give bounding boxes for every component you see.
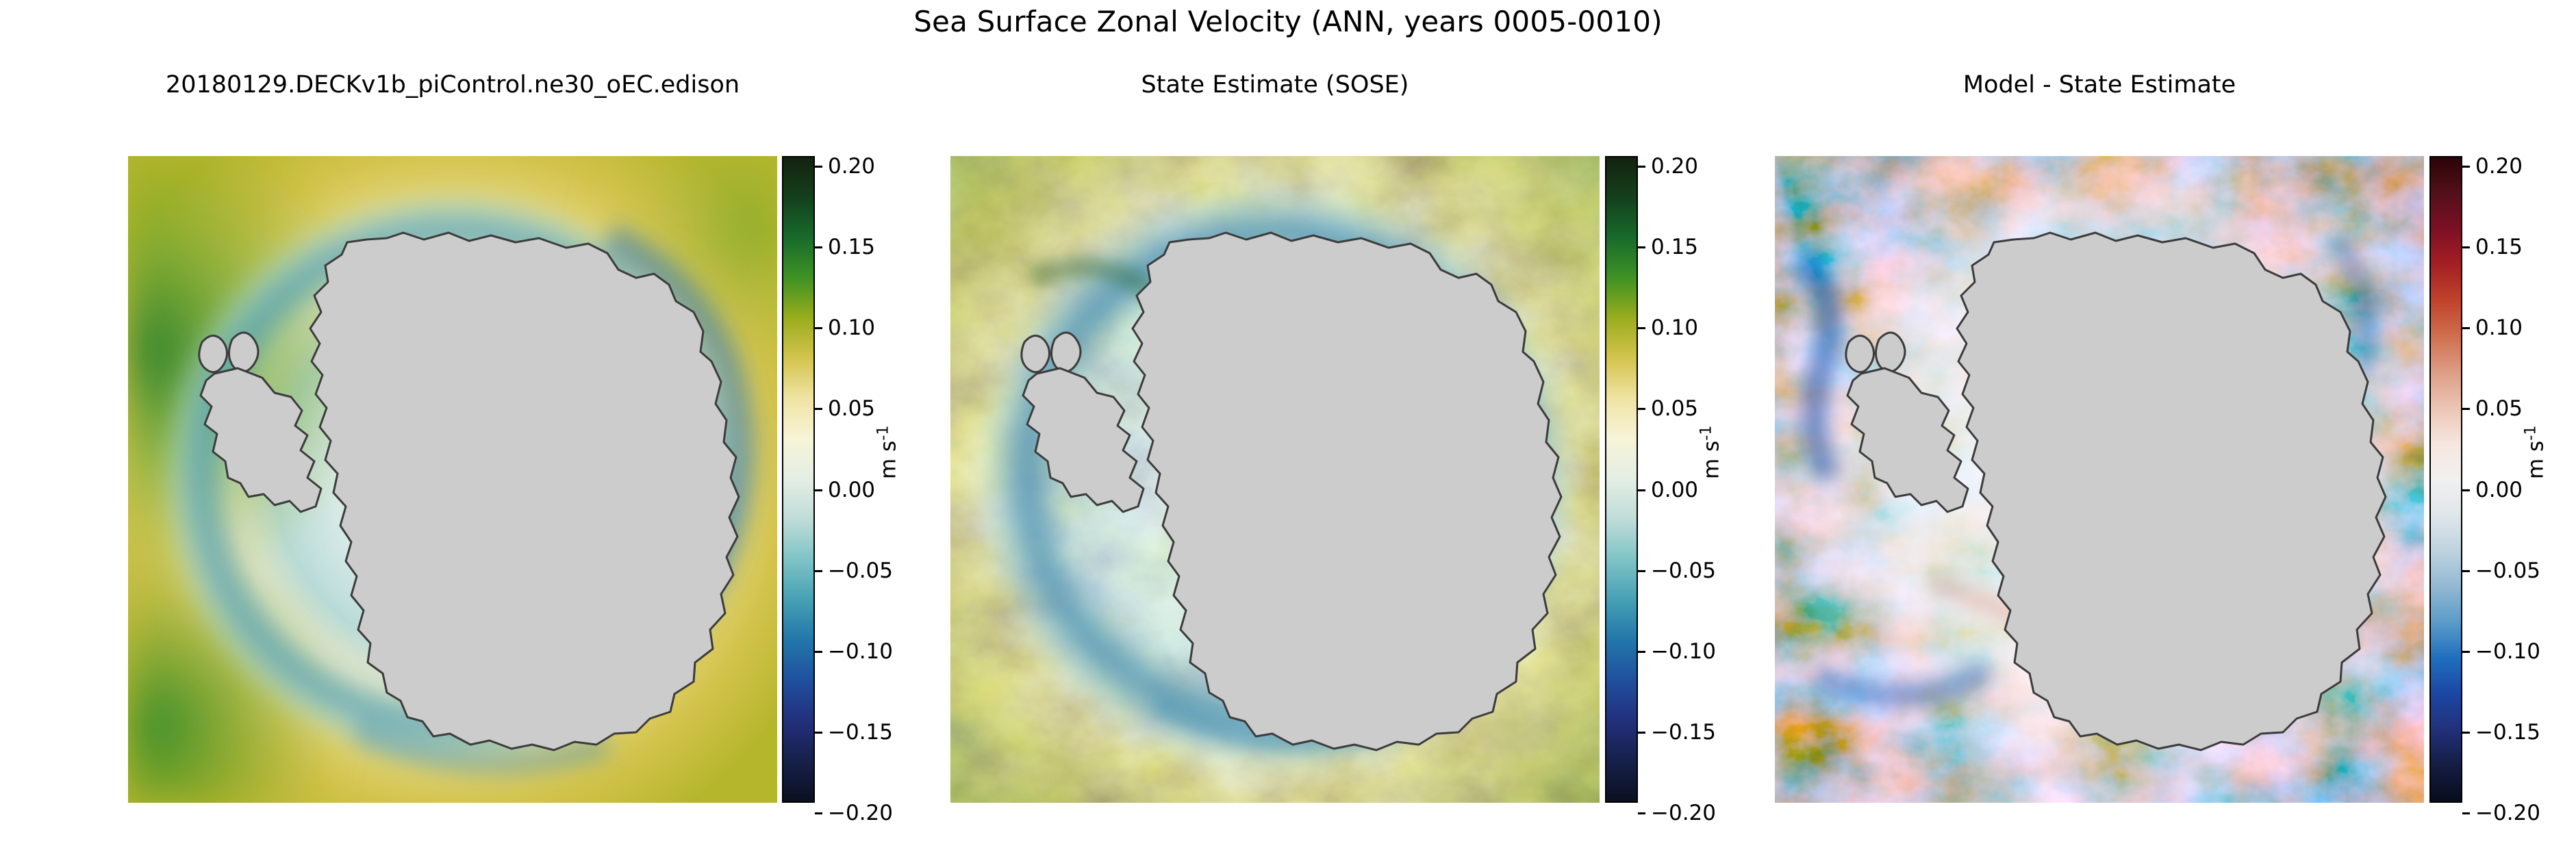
tick-mark-icon bbox=[2462, 246, 2470, 248]
tick-mark-icon bbox=[815, 246, 822, 248]
colorbar-tick-label: 0.15 bbox=[2475, 237, 2523, 258]
colorbar-model-unit: m s-1 bbox=[872, 426, 899, 479]
colorbar-tick-label: 0.05 bbox=[828, 398, 875, 420]
colorbar-model: 0.200.150.100.050.00−0.05−0.10−0.15−0.20… bbox=[782, 156, 926, 803]
panel-title-difference: Model - State Estimate bbox=[1775, 71, 2424, 99]
colorbar-tick-label: 0.20 bbox=[2475, 156, 2523, 177]
unit-main: m s bbox=[2524, 441, 2549, 479]
map-sose[interactable] bbox=[950, 156, 1600, 803]
colorbar-tick-label: 0.10 bbox=[828, 318, 875, 339]
colorbar-sose: 0.200.150.100.050.00−0.05−0.10−0.15−0.20… bbox=[1605, 156, 1749, 803]
tick-mark-icon bbox=[1638, 570, 1645, 572]
unit-exponent: -1 bbox=[2521, 426, 2539, 441]
colorbar-tick-label: 0.15 bbox=[828, 237, 875, 258]
colorbar-tick-label: −0.15 bbox=[828, 722, 893, 743]
colorbar-difference-ticks: 0.200.150.100.050.00−0.05−0.10−0.15−0.20 bbox=[2462, 156, 2572, 803]
tick-mark-icon bbox=[2462, 651, 2470, 653]
tick-mark-icon bbox=[815, 166, 822, 168]
colorbar-tick-label: −0.15 bbox=[1651, 722, 1716, 743]
colorbar-tick-label: −0.10 bbox=[1651, 641, 1716, 662]
unit-exponent: -1 bbox=[874, 426, 892, 441]
tick-mark-icon bbox=[2462, 489, 2470, 491]
tick-mark-icon bbox=[1638, 489, 1645, 491]
panel-sose: State Estimate (SOSE) bbox=[950, 0, 1600, 850]
colorbar-tick-label: −0.15 bbox=[2475, 722, 2540, 743]
colorbar-tick-label: 0.00 bbox=[828, 480, 875, 501]
tick-mark-icon bbox=[815, 651, 822, 653]
colorbar-sose-unit: m s-1 bbox=[1695, 426, 1722, 479]
colorbar-tick-label: −0.20 bbox=[828, 803, 893, 824]
tick-mark-icon bbox=[1638, 732, 1645, 734]
unit-main: m s bbox=[1700, 441, 1724, 479]
colorbar-tick-label: 0.00 bbox=[2475, 480, 2523, 501]
colorbar-tick-label: 0.10 bbox=[2475, 318, 2523, 339]
panel-title-sose: State Estimate (SOSE) bbox=[950, 71, 1600, 99]
panel-title-model: 20180129.DECKv1b_piControl.ne30_oEC.edis… bbox=[128, 71, 777, 99]
colorbar-difference-unit: m s-1 bbox=[2520, 426, 2547, 479]
colorbar-difference: 0.200.150.100.050.00−0.05−0.10−0.15−0.20… bbox=[2429, 156, 2573, 803]
colorbar-tick-label: 0.05 bbox=[2475, 398, 2523, 420]
tick-mark-icon bbox=[815, 489, 822, 491]
map-difference-canvas bbox=[1775, 156, 2424, 803]
tick-mark-icon bbox=[2462, 408, 2470, 410]
tick-mark-icon bbox=[815, 732, 822, 734]
island-b bbox=[1051, 333, 1081, 372]
tick-mark-icon bbox=[815, 812, 822, 814]
tick-mark-icon bbox=[815, 408, 822, 410]
tick-mark-icon bbox=[815, 570, 822, 572]
island-a bbox=[1846, 335, 1874, 372]
colorbar-tick-label: −0.05 bbox=[2475, 561, 2540, 582]
tick-mark-icon bbox=[1638, 812, 1645, 814]
colorbar-tick-label: 0.20 bbox=[1651, 156, 1698, 177]
colorbar-tick-label: −0.05 bbox=[1651, 561, 1716, 582]
island-a bbox=[1022, 335, 1050, 372]
map-difference[interactable] bbox=[1775, 156, 2424, 803]
colorbar-model-gradient bbox=[782, 156, 815, 803]
colorbar-model-ticks: 0.200.150.100.050.00−0.05−0.10−0.15−0.20 bbox=[815, 156, 924, 803]
tick-mark-icon bbox=[1638, 327, 1645, 329]
tick-mark-icon bbox=[1638, 651, 1645, 653]
colorbar-tick-label: 0.15 bbox=[1651, 237, 1698, 258]
tick-mark-icon bbox=[1638, 166, 1645, 168]
colorbar-tick-label: −0.10 bbox=[2475, 641, 2540, 662]
map-sose-canvas bbox=[950, 156, 1600, 803]
map-model-canvas bbox=[128, 156, 777, 803]
tick-mark-icon bbox=[815, 327, 822, 329]
colorbar-tick-label: −0.10 bbox=[828, 641, 893, 662]
unit-exponent: -1 bbox=[1697, 426, 1715, 441]
tick-mark-icon bbox=[1638, 408, 1645, 410]
colorbar-tick-label: 0.05 bbox=[1651, 398, 1698, 420]
colorbar-difference-gradient bbox=[2429, 156, 2462, 803]
tick-mark-icon bbox=[2462, 812, 2470, 814]
unit-main: m s bbox=[876, 441, 901, 479]
colorbar-sose-gradient bbox=[1605, 156, 1638, 803]
tick-mark-icon bbox=[2462, 327, 2470, 329]
panel-model: 20180129.DECKv1b_piControl.ne30_oEC.edis… bbox=[128, 0, 777, 850]
colorbar-sose-ticks: 0.200.150.100.050.00−0.05−0.10−0.15−0.20 bbox=[1638, 156, 1747, 803]
colorbar-tick-label: −0.20 bbox=[2475, 803, 2540, 824]
island-b bbox=[229, 333, 258, 372]
colorbar-tick-label: 0.10 bbox=[1651, 318, 1698, 339]
colorbar-tick-label: −0.20 bbox=[1651, 803, 1716, 824]
island-a bbox=[199, 335, 227, 372]
tick-mark-icon bbox=[2462, 166, 2470, 168]
colorbar-tick-label: 0.00 bbox=[1651, 480, 1698, 501]
map-model[interactable] bbox=[128, 156, 777, 803]
island-b bbox=[1876, 333, 1905, 372]
tick-mark-icon bbox=[2462, 732, 2470, 734]
colorbar-tick-label: −0.05 bbox=[828, 561, 893, 582]
tick-mark-icon bbox=[1638, 246, 1645, 248]
colorbar-tick-label: 0.20 bbox=[828, 156, 875, 177]
tick-mark-icon bbox=[2462, 570, 2470, 572]
panel-difference: Model - State Estimate bbox=[1775, 0, 2424, 850]
